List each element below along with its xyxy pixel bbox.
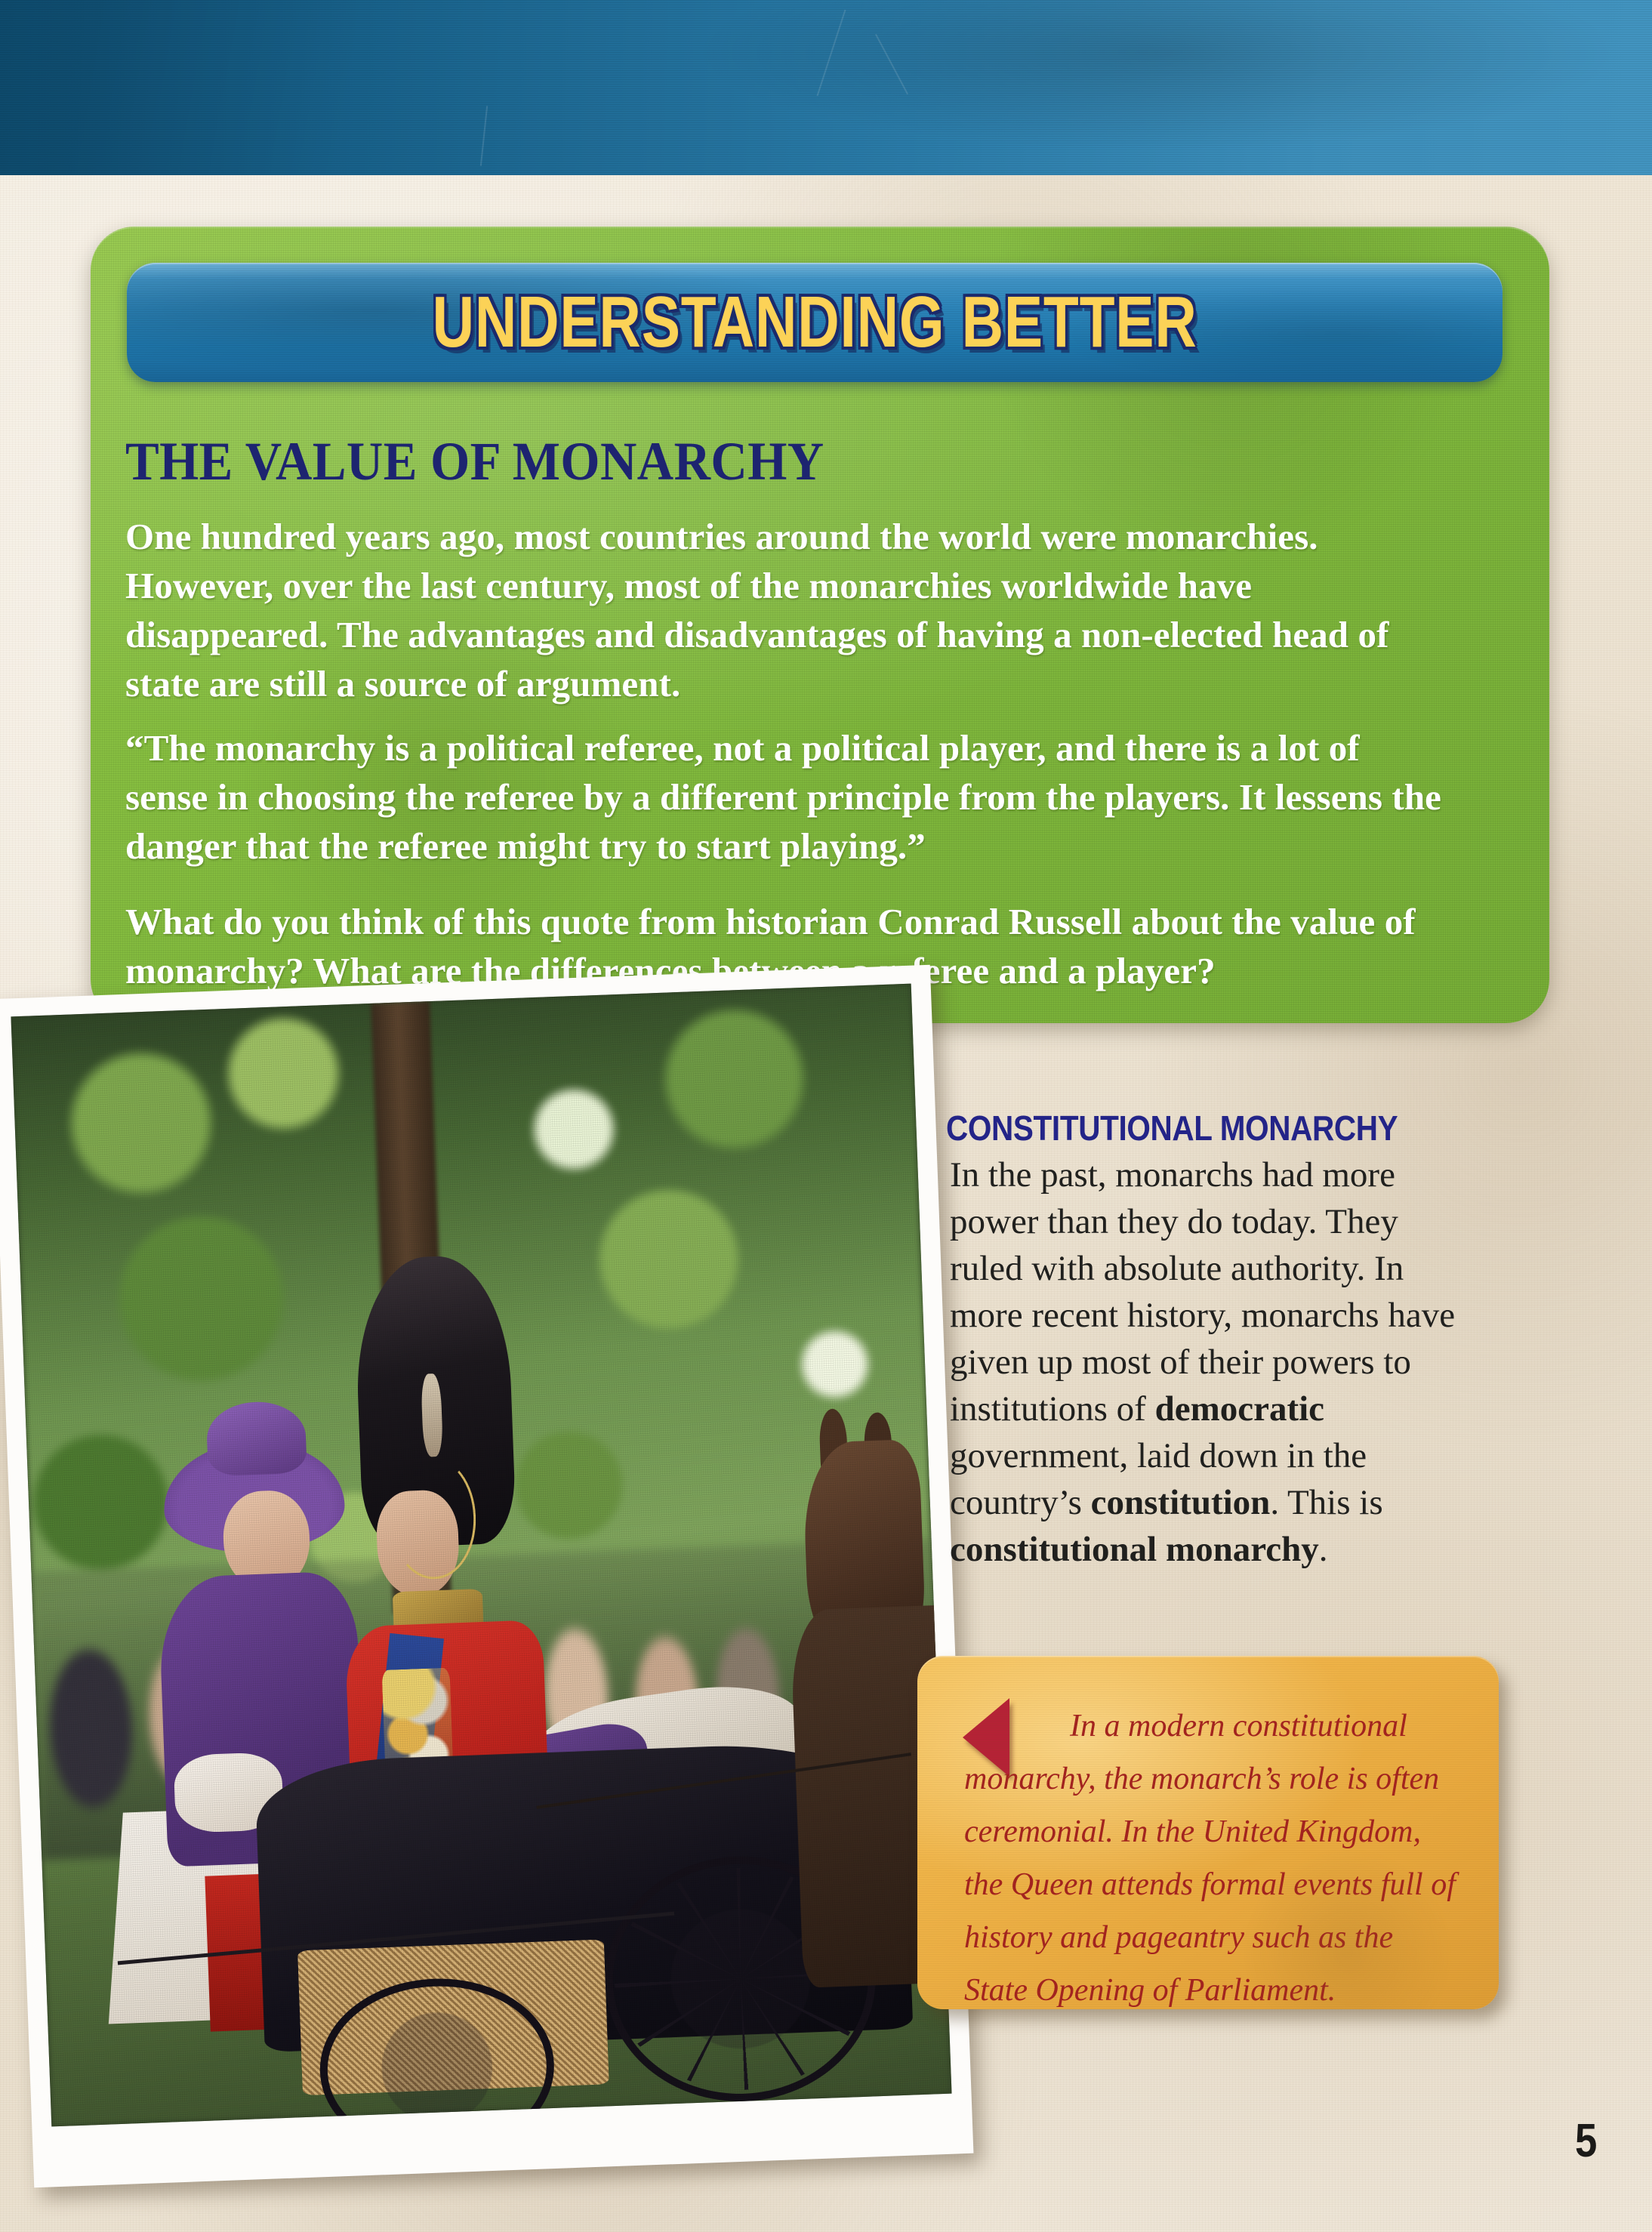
page-number: 5 (1575, 2114, 1597, 2168)
photo-frame (0, 965, 973, 2188)
queen-carriage-photo (11, 984, 951, 2127)
page-title: THE VALUE OF MONARCHY (125, 430, 1389, 493)
scratch-mark (480, 106, 488, 166)
callout-box: In a modern constitutional monarchy, the… (917, 1656, 1499, 2009)
top-blue-band (0, 0, 1652, 175)
quote-paragraph: “The monarchy is a political referee, no… (125, 723, 1443, 871)
callout-text: In a modern constitutional monarchy, the… (964, 1700, 1462, 2017)
constitutional-monarchy-body: In the past, monarchs had more power tha… (950, 1151, 1467, 1573)
constitutional-monarchy-heading: CONSTITUTIONAL MONARCHY (946, 1108, 1398, 1148)
intro-paragraph: One hundred years ago, most countries ar… (125, 512, 1443, 708)
section-banner: UNDERSTANDING BETTER (127, 263, 1503, 382)
scratch-mark (875, 34, 908, 94)
banner-title: UNDERSTANDING BETTER (433, 281, 1197, 364)
scratch-mark (817, 10, 846, 97)
